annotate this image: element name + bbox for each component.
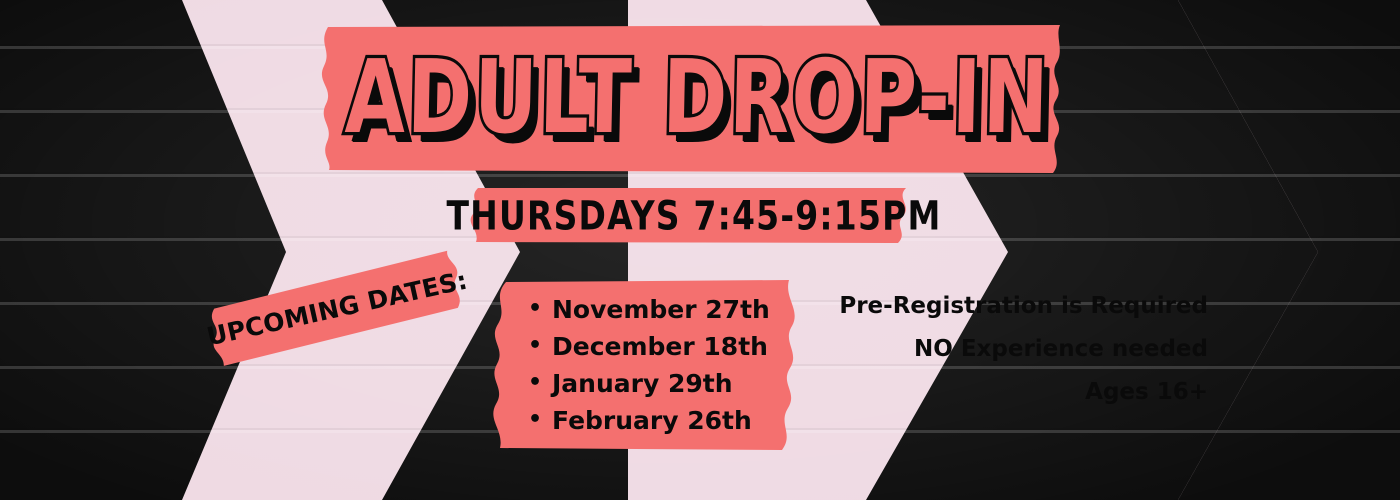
list-item: December 18th — [528, 328, 770, 365]
list-item: January 29th — [528, 365, 770, 402]
dates-container: November 27th December 18th January 29th… — [484, 278, 808, 452]
headline-container: ADULT DROP-IN — [318, 22, 1078, 174]
schedule-text: THURSDAYS 7:45-9:15PM — [446, 191, 941, 239]
dates-list: November 27th December 18th January 29th… — [528, 291, 770, 439]
note-pre-registration: Pre-Registration is Required — [788, 285, 1208, 328]
schedule-container: THURSDAYS 7:45-9:15PM — [466, 186, 922, 244]
note-no-experience: NO Experience needed — [788, 328, 1208, 371]
page-title: ADULT DROP-IN — [344, 47, 1051, 148]
list-item: November 27th — [528, 291, 770, 328]
note-ages: Ages 16+ — [788, 371, 1208, 414]
list-item: February 26th — [528, 402, 770, 439]
notes-block: Pre-Registration is Required NO Experien… — [788, 285, 1208, 414]
poster-canvas: ADULT DROP-IN THURSDAYS 7:45-9:15PM UPCO… — [0, 0, 1400, 500]
